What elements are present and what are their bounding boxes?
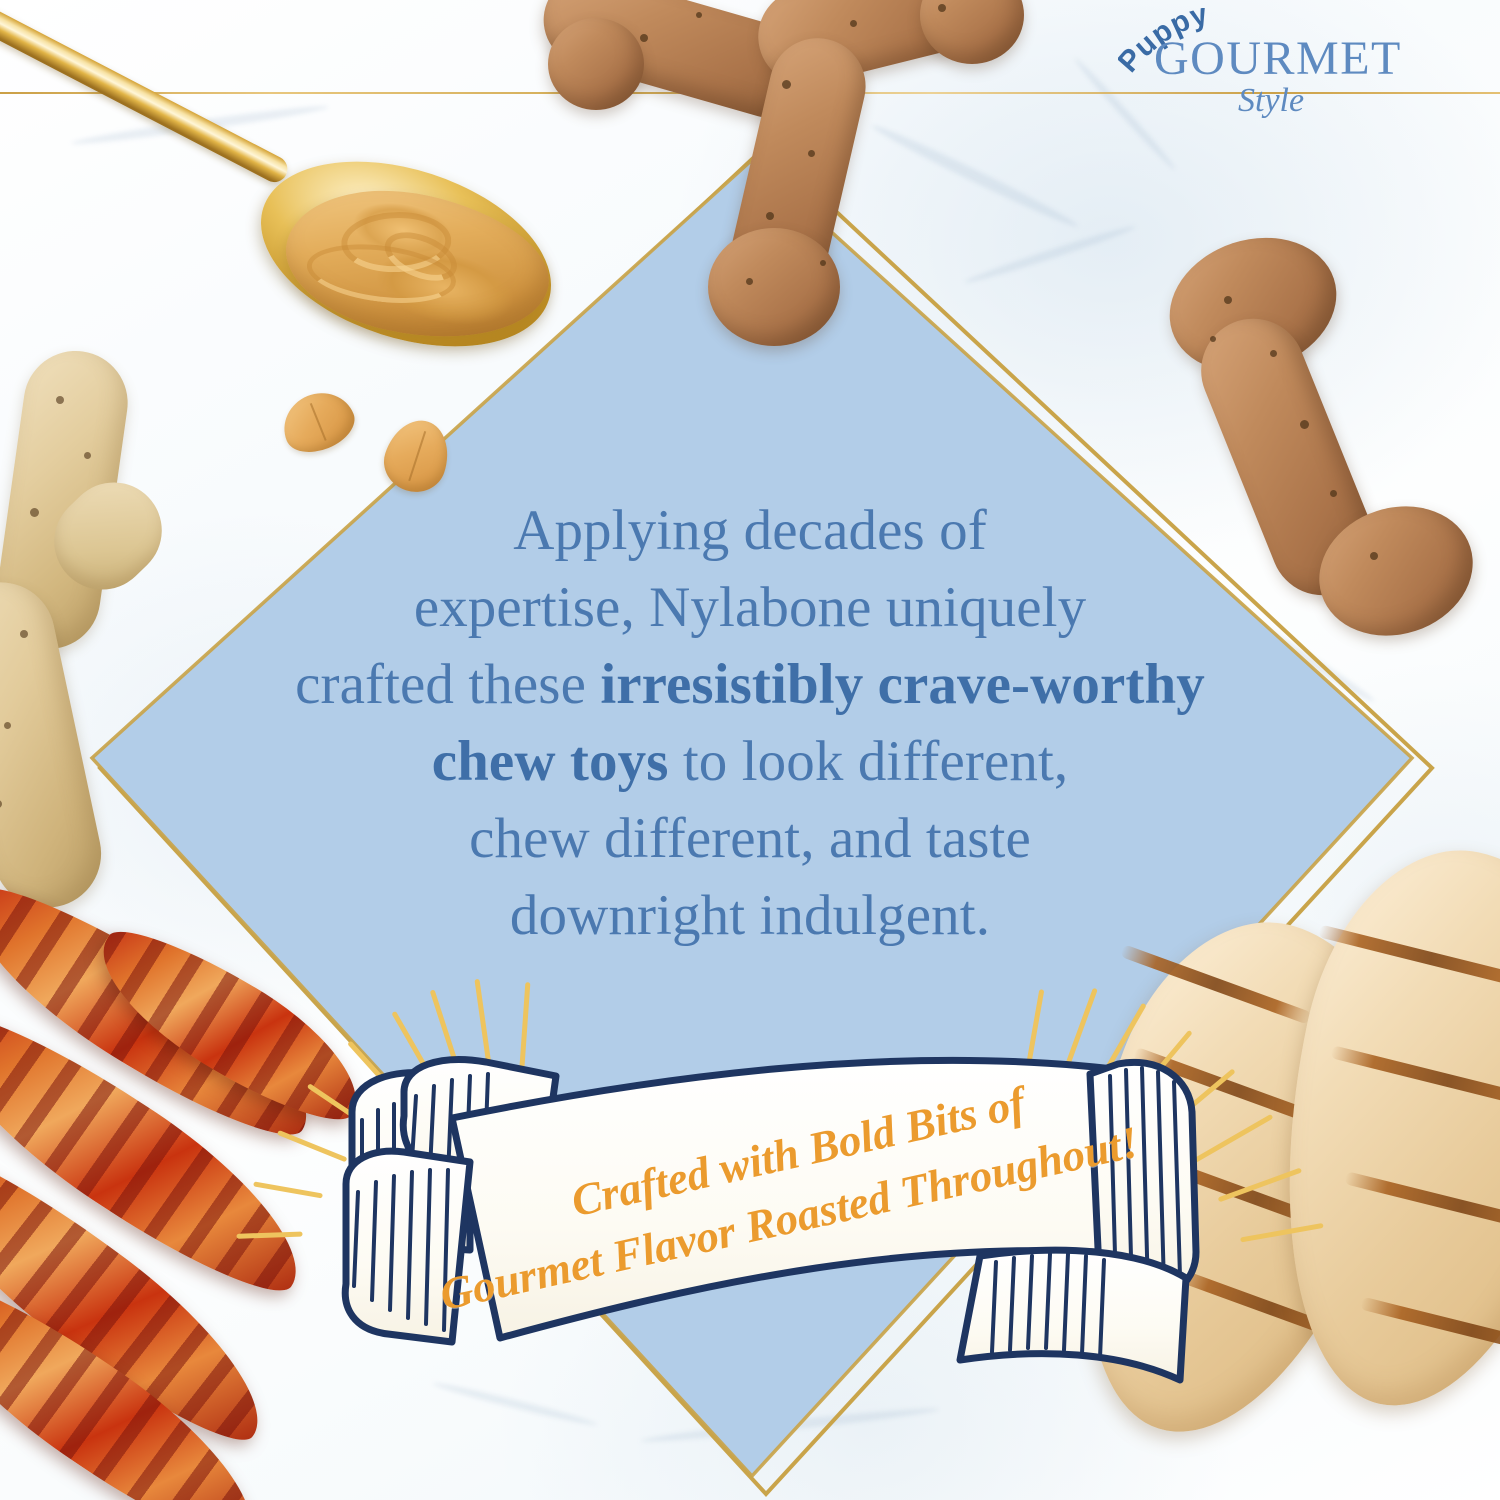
brand-logo-svg: Puppy GOURMET Style [1118, 8, 1448, 128]
logo-word-gourmet: GOURMET [1154, 32, 1402, 85]
ray [1240, 1223, 1324, 1243]
brand-logo[interactable]: Puppy GOURMET Style [1118, 8, 1448, 128]
sunburst-rays-right [0, 0, 1500, 1500]
ray [1218, 1168, 1302, 1203]
logo-word-style: Style [1238, 82, 1304, 119]
poster-canvas: Applying decades of expertise, Nylabone … [0, 0, 1500, 1500]
